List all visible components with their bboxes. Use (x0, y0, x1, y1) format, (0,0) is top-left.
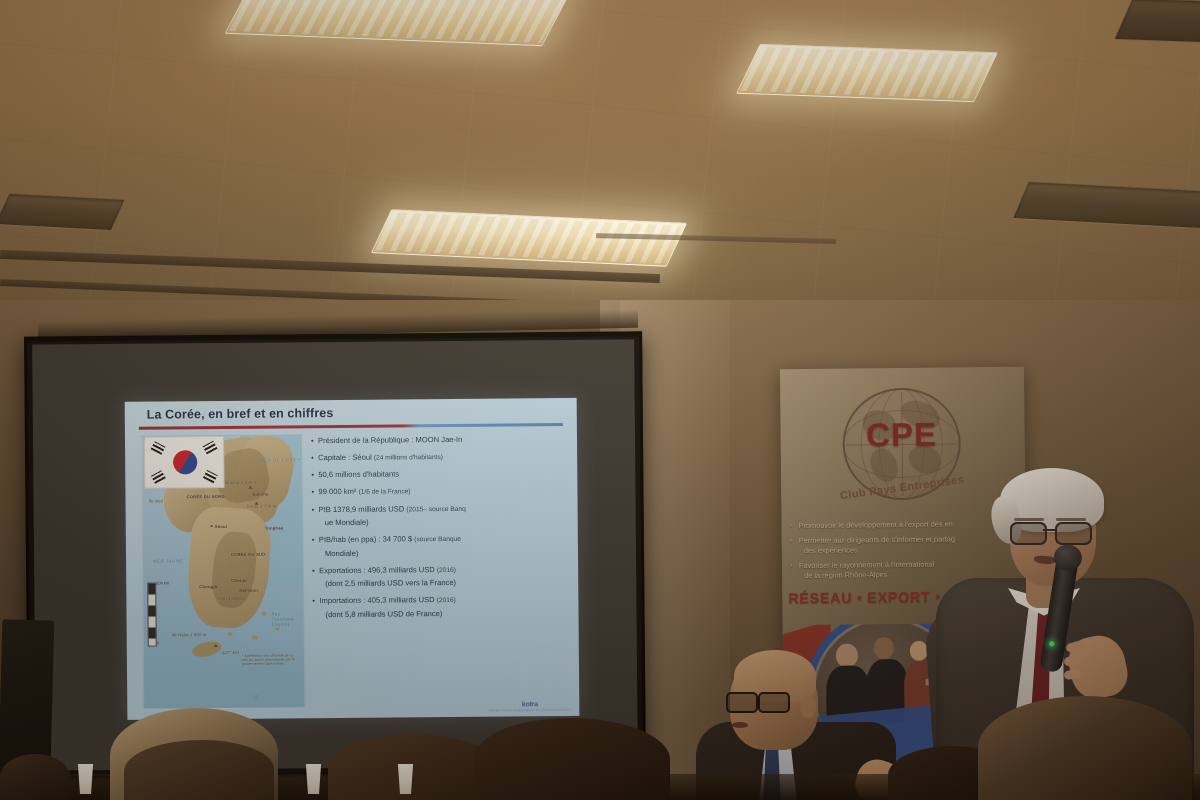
ceiling-light-fixture (736, 44, 998, 102)
map-label-peak-chiri: Chiri 1 915 m (217, 596, 245, 601)
city-dot-seoul (211, 525, 213, 527)
audience-head (124, 740, 274, 800)
island-dot (240, 622, 244, 625)
map-label-chongju: Chongju (199, 584, 217, 589)
eyeglasses-icon (1010, 522, 1098, 542)
map-label-sea-east: MER DE L'EST * (260, 457, 300, 462)
audience-head (474, 718, 670, 800)
map-label-tonghae: Tonghae (265, 525, 284, 530)
taegeuk-icon (169, 446, 202, 479)
screen-surface: La Corée, en bref et en chiffres (32, 339, 638, 770)
lens-right (758, 692, 790, 713)
glasses-bridge (1043, 529, 1055, 531)
microphone-led (1049, 641, 1055, 647)
audience-head (328, 734, 498, 800)
bullet-area: 99 000 km² (1/6 de la France) (311, 485, 569, 498)
bullet-gdp-cont: ue Mondiale) (312, 516, 570, 528)
map-label-south-korea: CORÉE DU SUD (231, 552, 266, 557)
map-label-namwon: Namwon (239, 588, 258, 593)
bullet-exports-cont: (dont 2,5 milliards USD vers la France) (312, 577, 570, 589)
trigram-icon (151, 470, 166, 484)
lens-left (1010, 522, 1047, 545)
map-label-sokcho: Sokcho (252, 492, 268, 497)
map-label-seoul: Séoul (215, 524, 227, 529)
slide-bullet-list: Président de la République : MOON Jae-In… (311, 434, 571, 712)
bullet-imports-cont: (dont 5,8 milliards USD de France) (312, 608, 570, 620)
slide-title-rule (139, 423, 563, 429)
jeju-island (191, 639, 223, 659)
scale-label-zero: 0 (157, 641, 159, 646)
speaker-eyebrow-right (1056, 518, 1086, 521)
audience-head (0, 754, 70, 800)
trigram-icon (203, 470, 218, 484)
map-label-north-korea: CORÉE DU NORD (186, 494, 224, 499)
trigram-icon (203, 441, 218, 455)
map-scale-bar (147, 583, 157, 647)
bullet-imports: Importations : 405,3 milliards USD (2016… (312, 594, 570, 607)
slide-title: La Corée, en bref et en chiffres (147, 404, 565, 422)
peak-marker (214, 644, 218, 647)
map-label-meridian: 127° Est (222, 650, 240, 655)
island-dot (252, 636, 258, 640)
lens-right (1055, 522, 1092, 545)
speaker-eyebrow-left (1014, 518, 1044, 521)
bullet-exports: Exportations : 496,3 milliards USD (2016… (312, 564, 570, 577)
bullet-gdp: PIB 1378,9 milliards USD (2015– source B… (312, 503, 570, 516)
projection-screen: La Corée, en bref et en chiffres (24, 331, 646, 778)
peak-marker (255, 502, 259, 505)
audience-head (978, 696, 1192, 800)
trigram-icon (151, 441, 166, 455)
seated-mouth (732, 722, 748, 728)
map-label-peak-halla: Mt Halla 1 950 m (172, 632, 207, 637)
south-korea-flag-icon (144, 436, 224, 489)
presentation-slide: La Corée, en bref et en chiffres (125, 398, 580, 720)
slide-number: 11 (253, 695, 258, 701)
eyeglasses-icon (726, 692, 788, 710)
bullet-capital: Capitale : Séoul (24 millions d'habitant… (311, 451, 569, 464)
lens-left (726, 692, 758, 713)
korea-map: MER DE L'EST * MER JAUNE CORÉE DU NORD C… (141, 434, 305, 709)
bullet-president: Président de la République : MOON Jae-In (311, 434, 569, 446)
map-footnote: * Appellation non officielle de la mer d… (242, 653, 298, 665)
conference-room-photo: La Corée, en bref et en chiffres (0, 0, 1200, 800)
map-label-peak-kumgang: Kumgang 1 638 m (220, 480, 257, 485)
island-dot (276, 627, 280, 630)
island-dot (261, 612, 266, 616)
bullet-gdp-per-capita-cont: Mondiale) (312, 547, 570, 559)
kotra-logo: kotra KOREA TRADE-INVESTMENT PROMOTION A… (489, 701, 572, 713)
map-label-ile-nod: Île Nod (149, 498, 164, 503)
scale-label-max: 200 km (156, 580, 169, 585)
cpe-acronym: CPE (842, 415, 960, 454)
bullet-gdp-per-capita: PIB/hab (en ppa) : 34 700 $ (source Banq… (312, 533, 570, 546)
ceiling-light-fixture-off (0, 193, 126, 231)
map-label-peak-sorak: Sorak 1 708 m (247, 504, 277, 509)
map-label-tsushima: Îles Tsushima (Japon) (271, 611, 299, 626)
map-label-chonju: Chonju (231, 578, 247, 583)
island-dot (228, 632, 233, 636)
bullet-population: 50,6 millions d'habitants (311, 468, 569, 480)
kotra-tagline: KOREA TRADE-INVESTMENT PROMOTION AGENCY (489, 708, 572, 713)
peak-marker (248, 486, 252, 489)
seated-ear (800, 694, 816, 718)
map-label-sea-yellow: MER JAUNE (153, 558, 183, 563)
